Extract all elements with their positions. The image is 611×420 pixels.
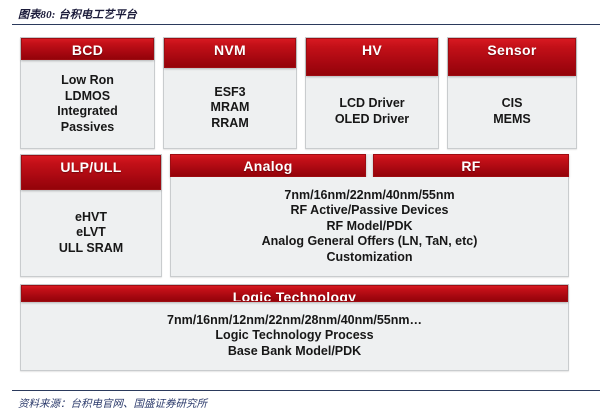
card-body-line: Low Ron bbox=[61, 73, 114, 89]
card-body-line: eHVT bbox=[75, 210, 107, 226]
card-analog-rf[interactable]: Analog RF 7nm/16nm/22nm/40nm/55nm RF Act… bbox=[170, 154, 569, 277]
figure-title: 图表80: 台积电工艺平台 bbox=[18, 6, 137, 22]
footer-divider bbox=[12, 390, 600, 391]
card-body-line: MRAM bbox=[211, 100, 250, 116]
card-header-logic-technology: Logic Technology bbox=[21, 285, 568, 302]
card-body-line: ULL SRAM bbox=[59, 241, 123, 257]
technology-platform-diagram: BCD Low Ron LDMOS Integrated Passives NV… bbox=[0, 26, 611, 384]
card-header-bcd: BCD bbox=[21, 38, 154, 60]
card-body-line: RRAM bbox=[211, 116, 249, 132]
card-header-sensor: Sensor bbox=[448, 38, 576, 76]
card-nvm[interactable]: NVM ESF3 MRAM RRAM bbox=[163, 37, 297, 149]
card-body-line: Customization bbox=[326, 250, 412, 266]
middle-card-group: ULP/ULL eHVT eLVT ULL SRAM Analog RF 7nm… bbox=[20, 154, 569, 277]
card-body-hv: LCD Driver OLED Driver bbox=[306, 76, 438, 149]
card-body-analog-rf: 7nm/16nm/22nm/40nm/55nm RF Active/Passiv… bbox=[170, 177, 569, 277]
card-body-line: RF Active/Passive Devices bbox=[291, 203, 449, 219]
card-header-ulp-ull: ULP/ULL bbox=[21, 155, 161, 190]
card-body-line: 7nm/16nm/22nm/40nm/55nm bbox=[284, 188, 454, 204]
card-logic-technology[interactable]: Logic Technology 7nm/16nm/12nm/22nm/28nm… bbox=[20, 284, 569, 371]
card-header-hv: HV bbox=[306, 38, 438, 76]
card-body-line: OLED Driver bbox=[335, 112, 409, 128]
card-body-line: Base Bank Model/PDK bbox=[228, 344, 361, 360]
card-body-line: Passives bbox=[61, 120, 115, 136]
bottom-card-group: Logic Technology 7nm/16nm/12nm/22nm/28nm… bbox=[20, 284, 569, 371]
row-top: BCD Low Ron LDMOS Integrated Passives NV… bbox=[20, 37, 569, 149]
card-body-line: Integrated bbox=[57, 104, 117, 120]
card-body-line: 7nm/16nm/12nm/22nm/28nm/40nm/55nm… bbox=[167, 313, 422, 329]
source-note: 资料来源：台积电官网、国盛证券研究所 bbox=[18, 396, 207, 411]
card-body-bcd: Low Ron LDMOS Integrated Passives bbox=[21, 60, 154, 148]
card-body-line: LDMOS bbox=[65, 89, 110, 105]
card-body-logic-technology: 7nm/16nm/12nm/22nm/28nm/40nm/55nm… Logic… bbox=[21, 302, 568, 370]
card-body-line: Logic Technology Process bbox=[215, 328, 373, 344]
card-header-nvm: NVM bbox=[164, 38, 296, 68]
card-bcd[interactable]: BCD Low Ron LDMOS Integrated Passives bbox=[20, 37, 155, 149]
card-header-analog: Analog bbox=[170, 154, 366, 177]
card-body-line: eLVT bbox=[76, 225, 106, 241]
card-header-rf: RF bbox=[373, 154, 569, 177]
card-body-line: MEMS bbox=[493, 112, 531, 128]
card-body-line: CIS bbox=[502, 96, 523, 112]
card-body-sensor: CIS MEMS bbox=[448, 76, 576, 149]
card-body-line: RF Model/PDK bbox=[326, 219, 412, 235]
top-card-group: BCD Low Ron LDMOS Integrated Passives NV… bbox=[20, 37, 569, 149]
card-body-line: Analog General Offers (LN, TaN, etc) bbox=[262, 234, 478, 250]
row-bottom: Logic Technology 7nm/16nm/12nm/22nm/28nm… bbox=[20, 284, 569, 371]
card-sensor[interactable]: Sensor CIS MEMS bbox=[447, 37, 577, 149]
card-body-ulp-ull: eHVT eLVT ULL SRAM bbox=[21, 190, 161, 276]
card-ulp-ull[interactable]: ULP/ULL eHVT eLVT ULL SRAM bbox=[20, 154, 162, 277]
card-body-line: ESF3 bbox=[214, 85, 245, 101]
card-hv[interactable]: HV LCD Driver OLED Driver bbox=[305, 37, 439, 149]
analog-rf-header-group: Analog RF bbox=[170, 154, 569, 177]
row-middle: ULP/ULL eHVT eLVT ULL SRAM Analog RF 7nm… bbox=[20, 154, 569, 277]
title-divider bbox=[12, 24, 600, 25]
card-body-nvm: ESF3 MRAM RRAM bbox=[164, 68, 296, 148]
card-body-line: LCD Driver bbox=[339, 96, 404, 112]
